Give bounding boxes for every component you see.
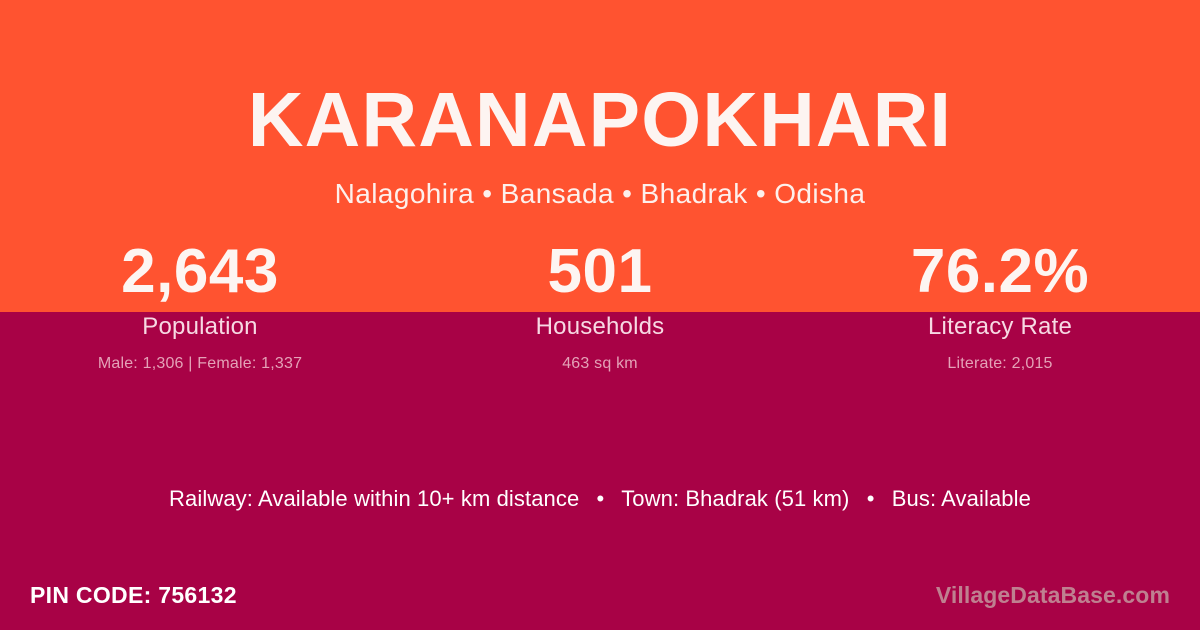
page-title: KARANAPOKHARI bbox=[0, 0, 1200, 159]
pin-code: PIN CODE: 756132 bbox=[30, 582, 237, 609]
stat-label: Population bbox=[0, 313, 400, 341]
amenity-railway: Railway: Available within 10+ km distanc… bbox=[169, 486, 579, 511]
village-info-card: KARANAPOKHARI Nalagohira • Bansada • Bha… bbox=[0, 0, 1200, 630]
amenities-row: Railway: Available within 10+ km distanc… bbox=[0, 486, 1200, 512]
stat-value: 501 bbox=[400, 240, 800, 304]
card-header: KARANAPOKHARI Nalagohira • Bansada • Bha… bbox=[0, 0, 1200, 210]
stat-label: Literacy Rate bbox=[800, 313, 1200, 341]
amenity-separator: • bbox=[856, 486, 886, 511]
stat-sub: 463 sq km bbox=[400, 355, 800, 373]
stats-row: 2,643 Population Male: 1,306 | Female: 1… bbox=[0, 240, 1200, 373]
stat-sub: Male: 1,306 | Female: 1,337 bbox=[0, 355, 400, 373]
stat-literacy-rate: 76.2% Literacy Rate Literate: 2,015 bbox=[800, 240, 1200, 373]
stat-population: 2,643 Population Male: 1,306 | Female: 1… bbox=[0, 240, 400, 373]
site-watermark: VillageDataBase.com bbox=[936, 582, 1170, 609]
stat-sub: Literate: 2,015 bbox=[800, 355, 1200, 373]
stat-value: 76.2% bbox=[800, 240, 1200, 304]
breadcrumb: Nalagohira • Bansada • Bhadrak • Odisha bbox=[0, 159, 1200, 210]
amenity-bus: Bus: Available bbox=[892, 486, 1031, 511]
amenity-separator: • bbox=[586, 486, 616, 511]
stat-label: Households bbox=[400, 313, 800, 341]
amenity-town: Town: Bhadrak (51 km) bbox=[621, 486, 849, 511]
stat-households: 501 Households 463 sq km bbox=[400, 240, 800, 373]
card-footer: PIN CODE: 756132 VillageDataBase.com bbox=[0, 560, 1200, 630]
stat-value: 2,643 bbox=[0, 240, 400, 304]
